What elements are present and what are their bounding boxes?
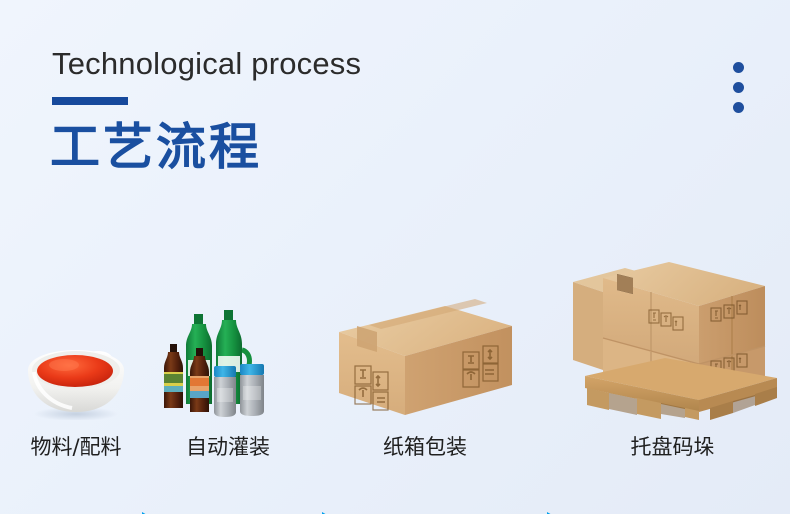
dot-1 [733,62,744,73]
stage-carton-art [330,245,520,420]
dot-3 [733,102,744,113]
stage-filling-art [158,245,298,420]
right-arrow-icon-1 [106,510,168,514]
right-arrow-icon-3 [511,510,573,514]
page-title-cn: 工艺流程 [50,116,262,178]
stage-material-label: 物料/配料 [6,434,146,460]
stage-pallet-art [560,245,785,420]
stage-pallet: 托盘码垛 [560,245,785,460]
process-flow: 物料/配料 [0,210,790,460]
stage-material-art [6,245,146,420]
palletized-boxes-icon [565,260,780,420]
process-infographic: Technological process 工艺流程 [0,0,790,514]
stage-material: 物料/配料 [6,245,146,460]
stage-filling: 自动灌装 [158,245,298,460]
stage-pallet-label: 托盘码垛 [560,434,785,460]
bowl-of-sauce-icon [20,342,132,420]
right-arrow-icon-2 [286,510,348,514]
page-title-en: Technological process [52,45,361,83]
stage-carton: 纸箱包装 [330,245,520,460]
title-underline-rule [52,97,128,105]
stage-carton-label: 纸箱包装 [330,434,520,460]
dot-2 [733,82,744,93]
cardboard-box-icon [333,290,518,420]
stage-filling-label: 自动灌装 [158,434,298,460]
three-dots-vertical-icon[interactable] [733,62,744,113]
bottles-group-icon [164,308,292,420]
